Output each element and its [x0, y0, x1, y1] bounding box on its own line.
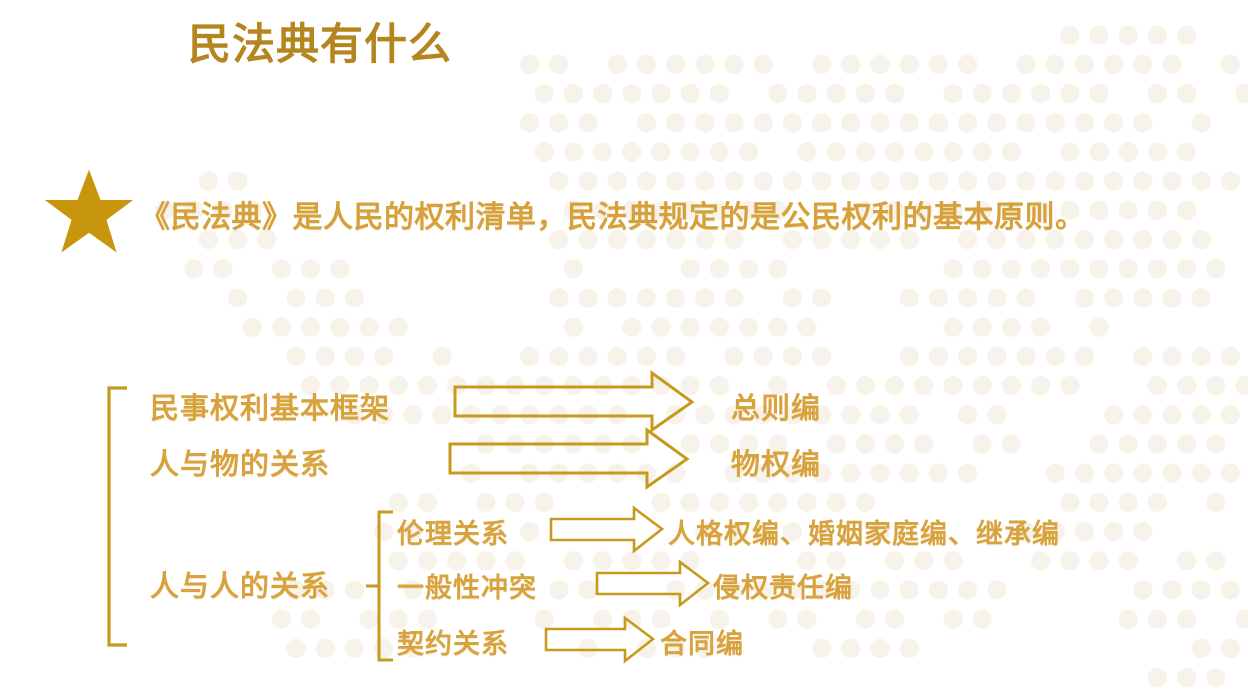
block-arrow-right-icon	[546, 618, 653, 661]
star-icon	[43, 166, 135, 258]
block-arrow-right-icon	[455, 373, 692, 430]
inner-bracket-icon	[366, 512, 393, 660]
subtitle-text: 《民法典》是人民的权利清单，民法典规定的是公民权利的基本原则。	[140, 192, 1086, 236]
page-title: 民法典有什么	[188, 22, 452, 69]
diagram-subrow-label-left: 契约关系	[397, 622, 509, 661]
diagram-subrow-label-right: 人格权编、婚姻家庭编、继承编	[668, 512, 1060, 551]
outer-bracket-icon	[109, 388, 127, 645]
block-arrow-right-icon	[450, 430, 687, 487]
diagram-row-label-left: 人与物的关系	[150, 441, 330, 483]
diagram-group-label: 人与人的关系	[150, 563, 330, 605]
diagram-row-label-right: 总则编	[731, 385, 821, 427]
diagram-row-label-right: 物权编	[731, 441, 821, 483]
diagram-subrow-label-right: 侵权责任编	[713, 566, 853, 605]
diagram-subrow-label-left: 一般性冲突	[397, 566, 537, 605]
diagram-row-label-left: 民事权利基本框架	[150, 385, 390, 427]
slide-canvas: 民法典有什么 《民法典》是人民的权利清单，民法典规定的是公民权利的基本原则。	[0, 0, 1248, 692]
diagram-subrow-label-right: 合同编	[660, 622, 744, 661]
diagram-subrow-label-left: 伦理关系	[397, 512, 509, 551]
block-arrow-right-icon	[597, 562, 708, 605]
block-arrow-right-icon	[551, 508, 662, 551]
